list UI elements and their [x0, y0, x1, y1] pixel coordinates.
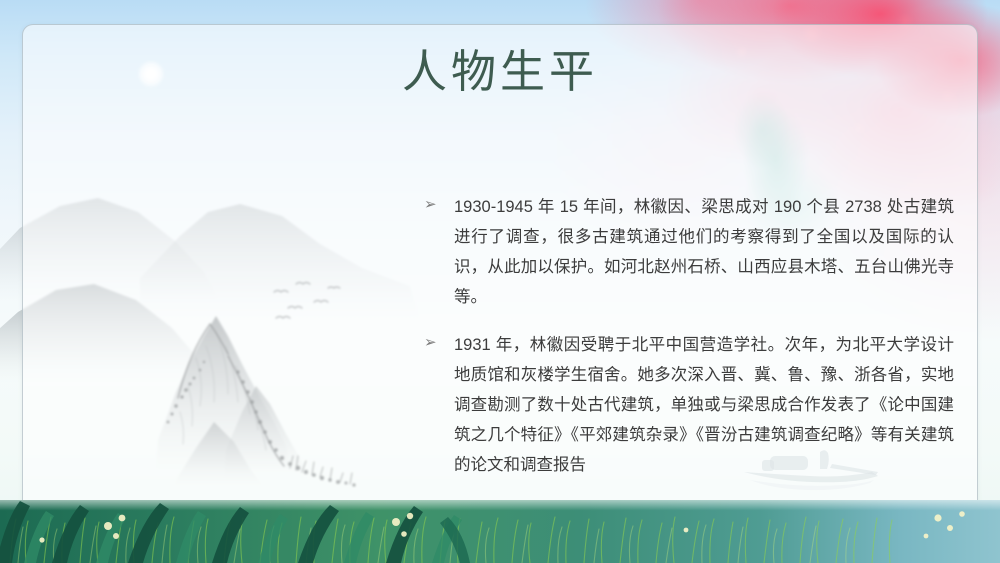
green-grass-strip — [0, 478, 1000, 563]
paragraph-text: 1931 年，林徽因受聘于北平中国营造学社。次年，为北平大学设计地质馆和灰楼学生… — [454, 330, 954, 480]
paragraph-item: ➢ 1931 年，林徽因受聘于北平中国营造学社。次年，为北平大学设计地质馆和灰楼… — [424, 330, 954, 480]
slide-canvas: 人物生平 ➢ 1930-1945 年 15 年间，林徽因、梁思成对 190 个县… — [0, 0, 1000, 563]
paragraph-item: ➢ 1930-1945 年 15 年间，林徽因、梁思成对 190 个县 2738… — [424, 192, 954, 312]
paragraph-text: 1930-1945 年 15 年间，林徽因、梁思成对 190 个县 2738 处… — [454, 192, 954, 312]
arrow-bullet-icon: ➢ — [424, 194, 440, 214]
body-text-block: ➢ 1930-1945 年 15 年间，林徽因、梁思成对 190 个县 2738… — [424, 192, 954, 480]
arrow-bullet-icon: ➢ — [424, 332, 440, 352]
page-title: 人物生平 — [0, 44, 1000, 100]
